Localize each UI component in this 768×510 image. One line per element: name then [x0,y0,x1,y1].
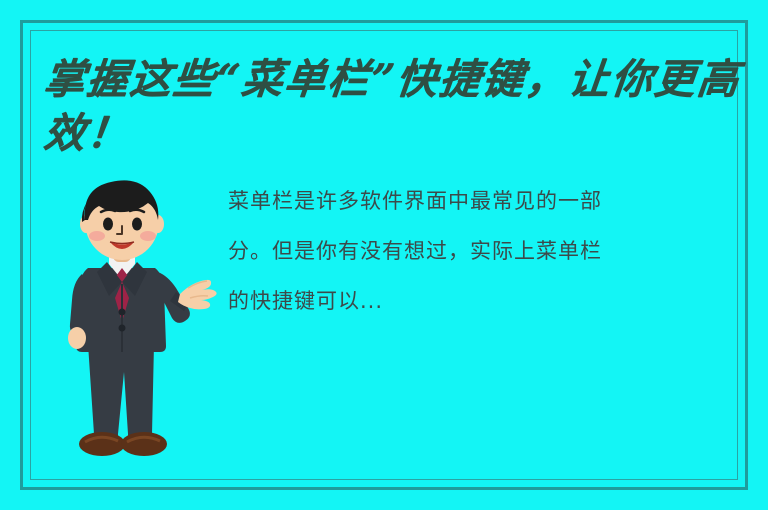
poster-title: 掌握这些“菜单栏”快捷键，让你更高 效！ [44,52,734,160]
left-shoe [79,432,125,456]
body-line-3: 的快捷键可以... [228,276,728,326]
left-blush [89,231,105,241]
poster-body-text: 菜单栏是许多软件界面中最常见的一部 分。但是你有没有想过，实际上菜单栏 的快捷键… [228,176,728,326]
hand-palm [178,280,217,309]
left-eye [103,218,113,231]
right-shoe [121,432,167,456]
right-blush [140,231,156,241]
left-hand [68,327,86,349]
jacket-button-upper [119,309,126,316]
shoes-group [79,432,167,456]
title-line-2: 效！ [41,106,737,160]
title-line-1: 掌握这些“菜单栏”快捷键，让你更高 [41,52,737,106]
body-line-1: 菜单栏是许多软件界面中最常见的一部 [228,176,728,226]
right-hand-presenting [178,280,217,309]
poster-canvas: 掌握这些“菜单栏”快捷键，让你更高 效！ 菜单栏是许多软件界面中最常见的一部 分… [0,0,768,510]
body-line-2: 分。但是你有没有想过，实际上菜单栏 [228,226,728,276]
businessman-presenting-illustration [52,176,222,476]
jacket-button-lower [119,325,126,332]
right-eye [132,218,142,231]
